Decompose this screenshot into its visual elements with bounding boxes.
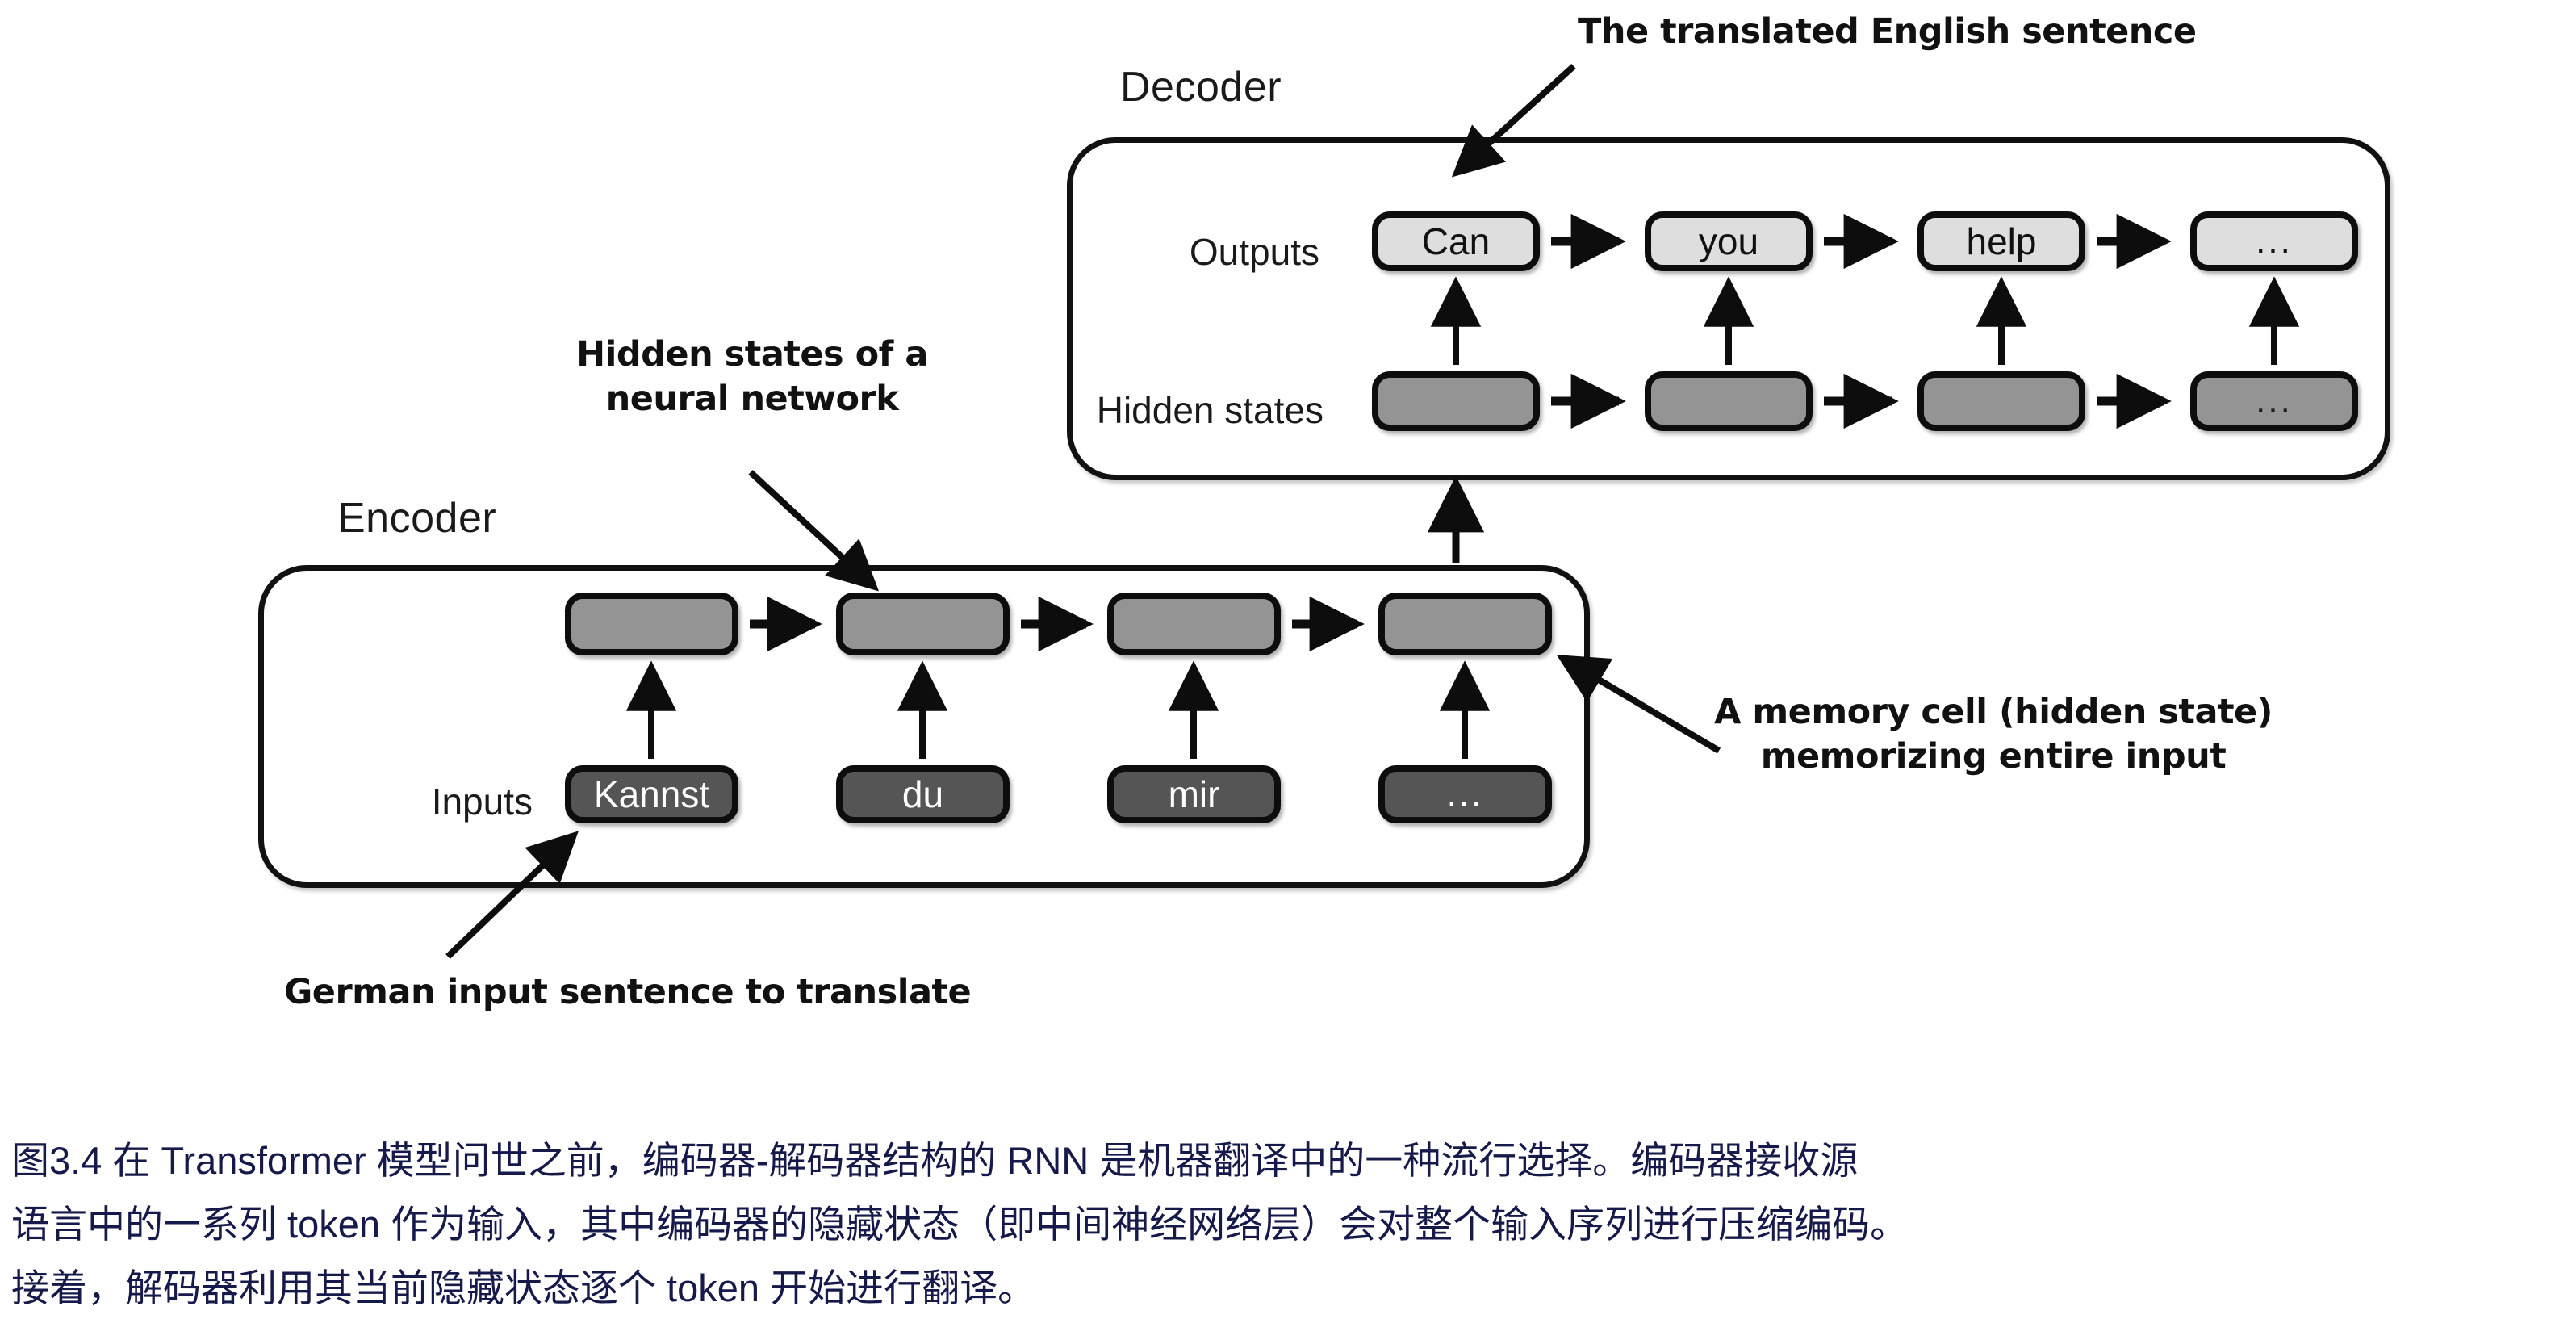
encoder-hidden-cell-1[interactable] bbox=[565, 593, 738, 655]
decoder-hidden-row-label: Hidden states bbox=[1081, 388, 1324, 432]
caption-line-2: 语言中的一系列 token 作为输入，其中编码器的隐藏状态（即中间神经网络层）会… bbox=[11, 1192, 2570, 1256]
callout-memory-cell: A memory cell (hidden state) memorizing … bbox=[1711, 690, 2276, 779]
encoder-hidden-cell-2[interactable] bbox=[836, 593, 1010, 655]
encoder-input-cell-4-label: ... bbox=[1447, 777, 1484, 812]
callout-memory-cell-line2: memorizing entire input bbox=[1761, 736, 2227, 777]
decoder-title: Decoder bbox=[1120, 63, 1282, 111]
decoder-hidden-cell-2[interactable] bbox=[1645, 371, 1813, 431]
caption-line-1: 图3.4 在 Transformer 模型问世之前，编码器-解码器结构的 RNN… bbox=[11, 1129, 2570, 1192]
outputs-row-label: Outputs bbox=[1134, 230, 1319, 274]
inputs-row-label: Inputs bbox=[355, 780, 533, 823]
decoder-output-cell-4-label: ... bbox=[2256, 224, 2293, 259]
encoder-input-cell-3[interactable]: mir bbox=[1107, 765, 1281, 823]
encoder-title: Encoder bbox=[337, 494, 496, 542]
decoder-output-cell-2-label: you bbox=[1699, 223, 1758, 260]
decoder-output-cell-3-label: help bbox=[1967, 223, 2037, 260]
callout-hidden-states-line1: Hidden states of a bbox=[576, 334, 928, 375]
callout-hidden-states: Hidden states of a neural network bbox=[575, 333, 930, 421]
caption-line-3: 接着，解码器利用其当前隐藏状态逐个 token 开始进行翻译。 bbox=[11, 1256, 2570, 1320]
encoder-hidden-cell-4[interactable] bbox=[1378, 593, 1552, 655]
decoder-hidden-cell-1[interactable] bbox=[1372, 371, 1540, 431]
decoder-output-cell-4[interactable]: ... bbox=[2190, 211, 2358, 271]
callout-memory-cell-line1: A memory cell (hidden state) bbox=[1714, 692, 2273, 732]
decoder-output-cell-1[interactable]: Can bbox=[1372, 211, 1540, 271]
encoder-input-cell-3-label: mir bbox=[1169, 776, 1220, 813]
figure-caption: 图3.4 在 Transformer 模型问世之前，编码器-解码器结构的 RNN… bbox=[11, 1129, 2570, 1320]
encoder-input-cell-1-label: Kannst bbox=[594, 776, 709, 813]
callout-hidden-states-line2: neural network bbox=[606, 379, 899, 419]
decoder-output-cell-3[interactable]: help bbox=[1917, 211, 2085, 271]
encoder-input-cell-2-label: du bbox=[902, 776, 943, 813]
decoder-hidden-cell-3[interactable] bbox=[1917, 371, 2085, 431]
encoder-input-cell-4[interactable]: ... bbox=[1378, 765, 1552, 823]
callout-translated-sentence: The translated English sentence bbox=[1578, 10, 2197, 54]
encoder-input-cell-1[interactable]: Kannst bbox=[565, 765, 738, 823]
callout-german-input: German input sentence to translate bbox=[284, 970, 971, 1015]
decoder-hidden-cell-4-label: ... bbox=[2256, 383, 2293, 419]
decoder-output-cell-1-label: Can bbox=[1422, 223, 1490, 260]
encoder-input-cell-2[interactable]: du bbox=[836, 765, 1010, 823]
decoder-hidden-cell-4[interactable]: ... bbox=[2190, 371, 2358, 431]
encoder-hidden-cell-3[interactable] bbox=[1107, 593, 1281, 655]
figure-root: Decoder Outputs Can you help ... Hidden … bbox=[0, 0, 2576, 1340]
decoder-output-cell-2[interactable]: you bbox=[1645, 211, 1813, 271]
